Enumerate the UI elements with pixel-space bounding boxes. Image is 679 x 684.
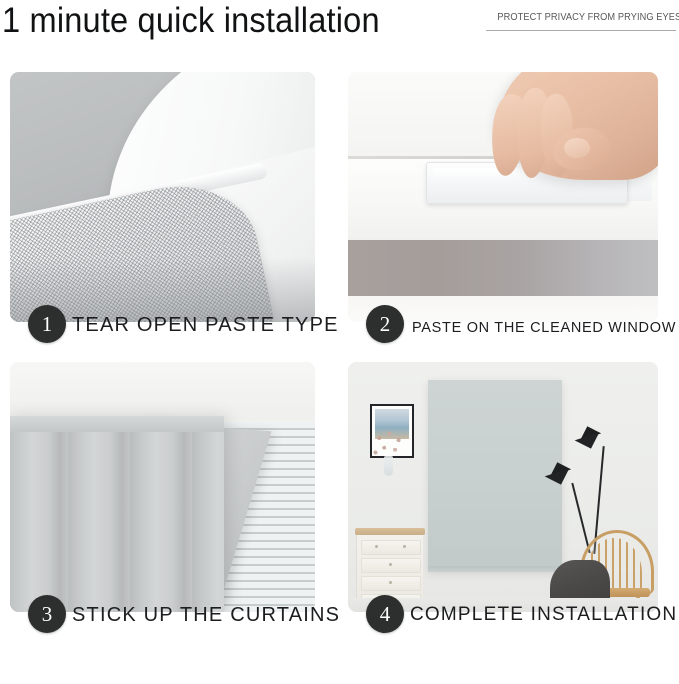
step-1-caption: TEAR OPEN PASTE TYPE [72,311,339,339]
installed-curtain [428,380,562,572]
step-1: 1 TEAR OPEN PASTE TYPE [10,72,320,363]
step-3-caption: STICK UP THE CURTAINS [72,601,340,629]
step-2: 2 PASTE ON THE CLEANED WINDOW FRAME [348,72,658,363]
step-1-caption-row: 1 TEAR OPEN PASTE TYPE [10,323,320,363]
installation-steps-grid: 1 TEAR OPEN PASTE TYPE 2 PASTE ON THE [0,62,679,662]
step-4: 4 COMPLETE INSTALLATION [348,362,658,653]
page-title: 1 minute quick installation [2,0,380,43]
step-3-photo [10,362,315,612]
step-2-caption: PASTE ON THE CLEANED WINDOW FRAME [412,314,679,342]
ceiling [10,362,315,420]
dresser-wood-top [355,528,425,535]
step-3-badge: 3 [28,595,66,633]
drawer-knob [389,581,392,584]
curtain-header-band [10,416,224,432]
tagline-divider [486,30,676,31]
step-2-photo [348,72,658,322]
step-4-caption: COMPLETE INSTALLATION [410,601,677,629]
wall-gray-band [348,240,658,296]
step-1-photo [10,72,315,322]
step-2-badge: 2 [366,305,404,343]
step-1-badge: 1 [28,305,66,343]
curtain-hem [428,566,562,572]
step-4-badge: 4 [366,595,404,633]
step-2-caption-row: 2 PASTE ON THE CLEANED WINDOW FRAME [348,323,658,363]
blackout-curtain [10,416,224,612]
drawer-knob [389,563,392,566]
tagline-text: PROTECT PRIVACY FROM PRYING EYES [497,11,664,24]
header: 1 minute quick installation PROTECT PRIV… [0,0,679,62]
step-3-caption-row: 3 STICK UP THE CURTAINS [10,613,320,653]
drawer-knob [375,545,378,548]
tagline-block: PROTECT PRIVACY FROM PRYING EYES [486,11,676,31]
glass-vase [384,456,393,476]
dresser-drawer [361,540,421,555]
step-4-caption-row: 4 COMPLETE INSTALLATION [348,613,658,653]
step-4-photo [348,362,658,612]
drawer-knob [403,545,406,548]
thumb-nail [564,138,590,158]
step-3: 3 STICK UP THE CURTAINS [10,362,320,653]
